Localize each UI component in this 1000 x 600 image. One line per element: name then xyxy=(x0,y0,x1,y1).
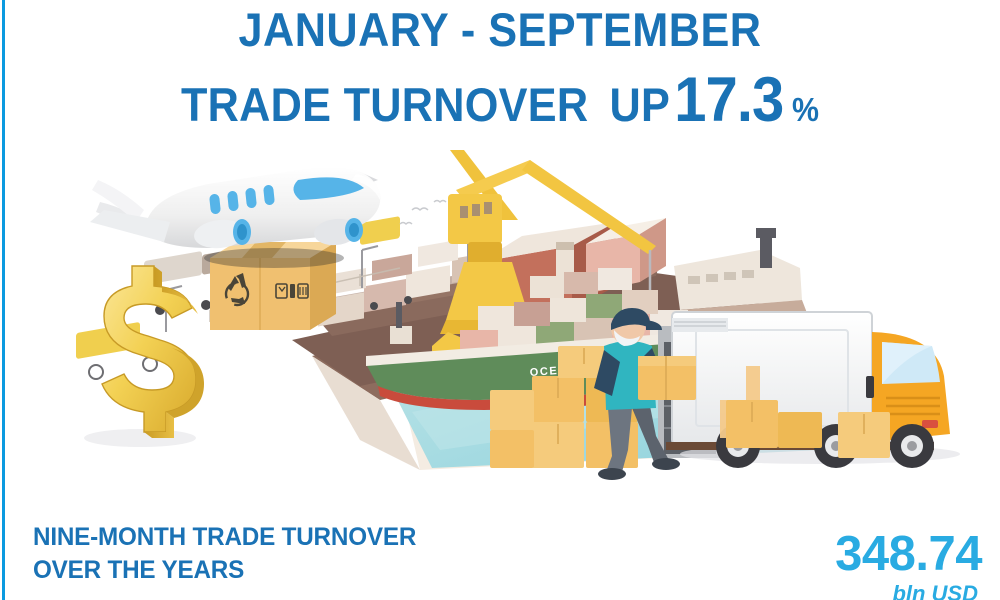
cargo-airplane xyxy=(90,167,380,268)
headline-metric: TRADE TURNOVER UP 17.3 % xyxy=(40,69,960,132)
footer-caption-line2: OVER THE YEARS xyxy=(33,554,537,587)
headline-block: JANUARY - SEPTEMBER TRADE TURNOVER UP 17… xyxy=(0,6,1000,132)
logistics-illustration: OCEANIC LINES xyxy=(60,150,960,490)
footer-figure-block: 348.74 bln USD xyxy=(700,530,982,600)
footer-caption-line1: NINE-MONTH TRADE TURNOVER xyxy=(33,521,537,554)
infographic-canvas: JANUARY - SEPTEMBER TRADE TURNOVER UP 17… xyxy=(0,0,1000,600)
headline-percent-symbol: % xyxy=(792,91,819,128)
headline-direction-label: UP xyxy=(609,78,670,131)
footer-caption: NINE-MONTH TRADE TURNOVER OVER THE YEARS xyxy=(33,521,553,587)
headline-period: JANUARY - SEPTEMBER xyxy=(40,6,960,53)
box-cluster-near-worker xyxy=(490,390,534,468)
dollar-sign-3d xyxy=(84,266,204,447)
footer-figure-value: 348.74 xyxy=(700,530,982,579)
headline-value: 17.3 xyxy=(674,65,783,135)
footer-figure-unit: bln USD xyxy=(700,582,978,600)
headline-metric-label: TRADE TURNOVER xyxy=(181,78,588,131)
